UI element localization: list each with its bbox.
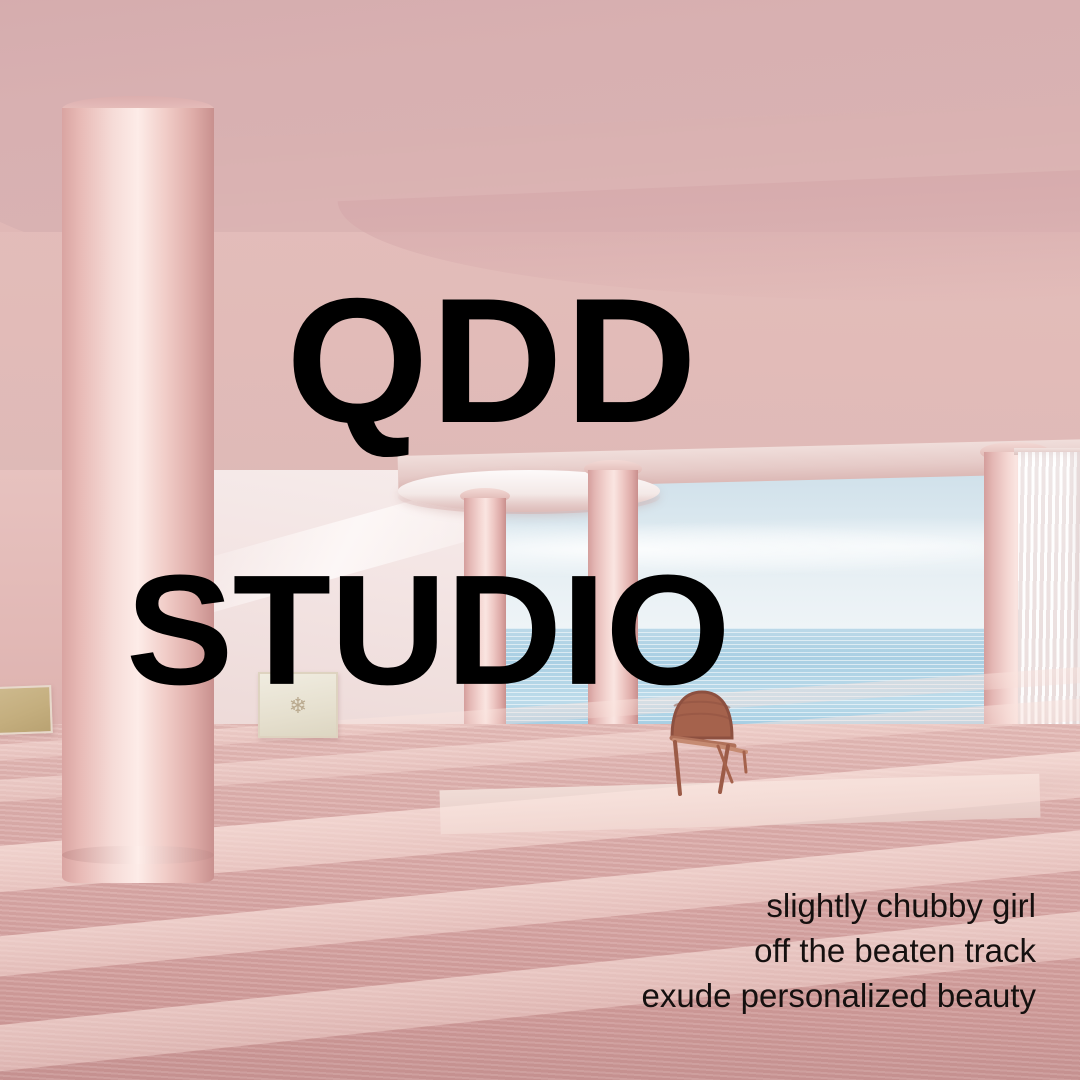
front-left-column-base bbox=[62, 846, 214, 864]
brand-title-line-2: STUDIO bbox=[126, 552, 730, 709]
tagline-line-3: exude personalized beauty bbox=[642, 974, 1036, 1019]
brand-title-line-1: QDD bbox=[286, 272, 699, 450]
tagline-line-2: off the beaten track bbox=[642, 929, 1036, 974]
framed-artwork-left bbox=[0, 685, 53, 735]
poster-canvas: ❄ QDD STUDIO sl bbox=[0, 0, 1080, 1080]
front-left-column bbox=[62, 108, 214, 883]
tagline-line-1: slightly chubby girl bbox=[642, 884, 1036, 929]
tagline-block: slightly chubby girl off the beaten trac… bbox=[642, 884, 1036, 1019]
